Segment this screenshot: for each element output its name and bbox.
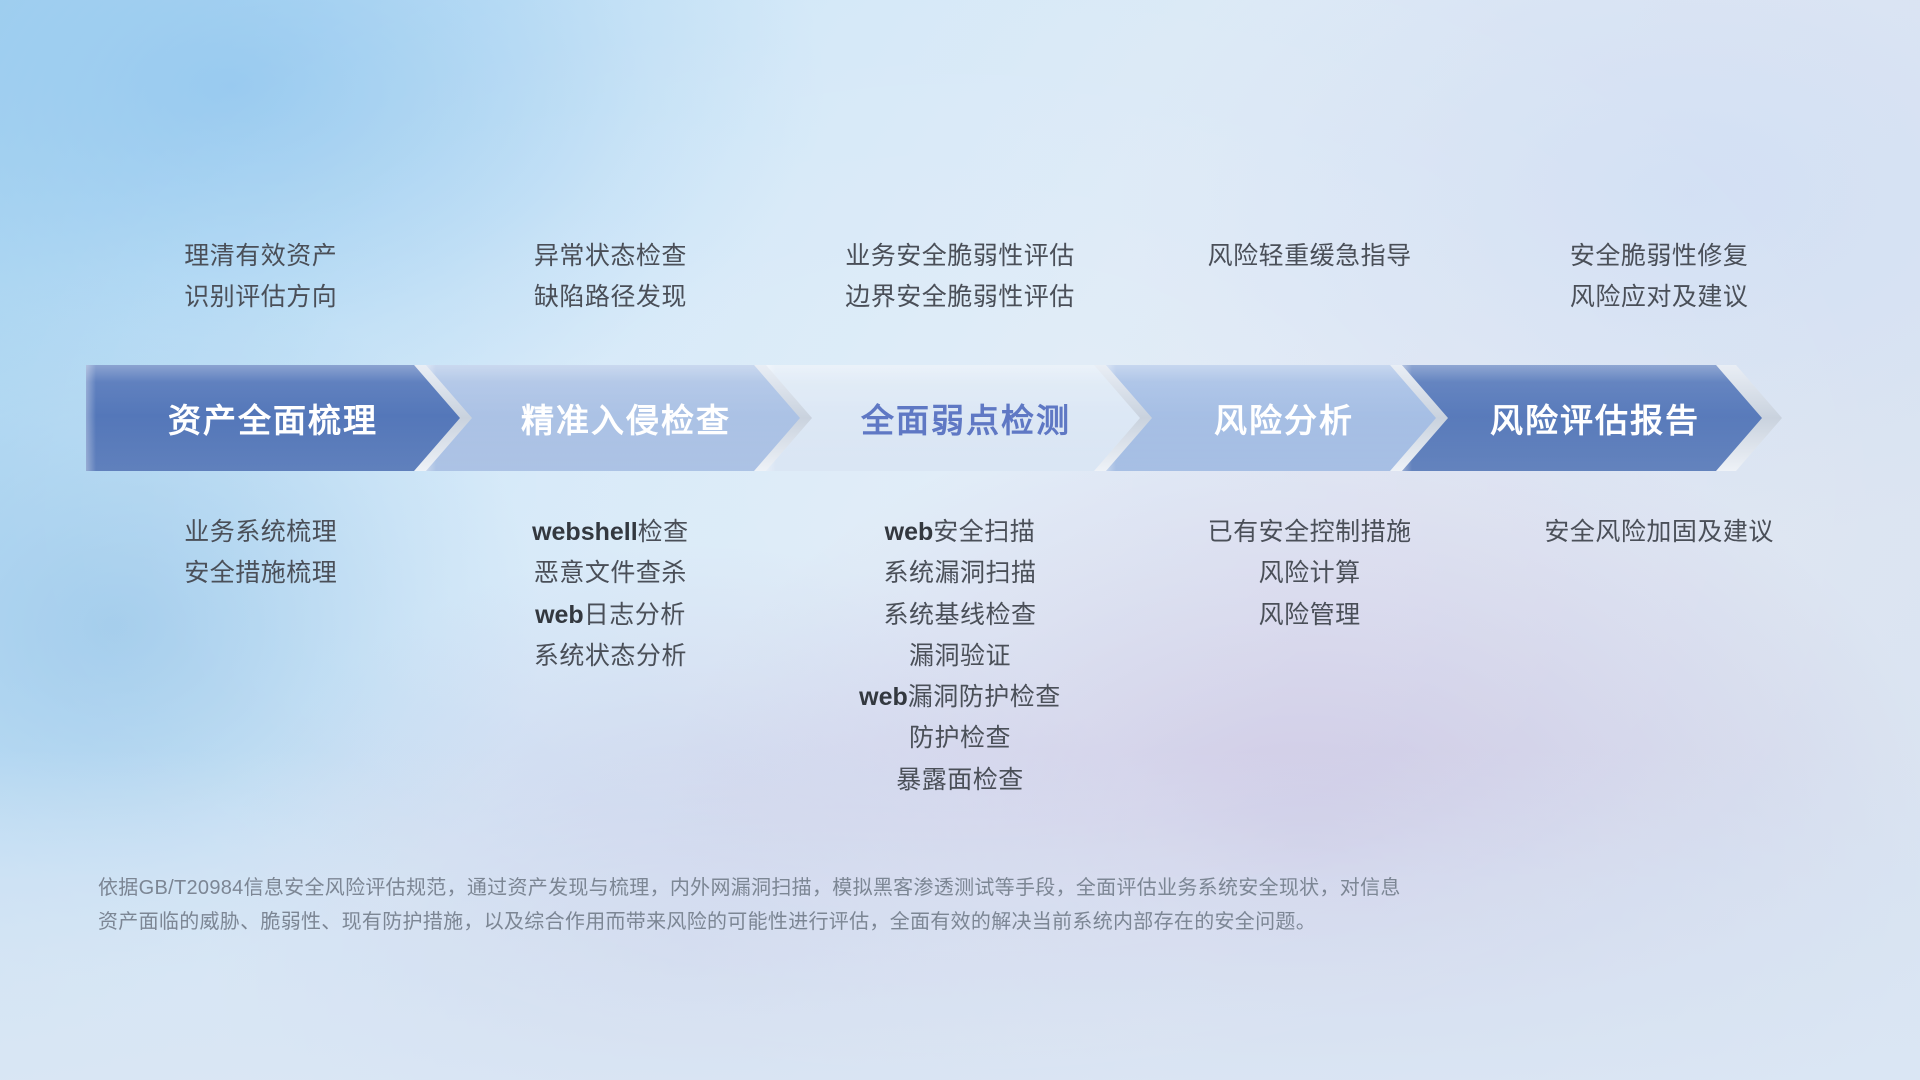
bottom-detail-item: 系统状态分析 [436, 636, 786, 677]
bottom-detail-item: web安全扫描 [785, 512, 1135, 553]
bottom-detail-item: 安全措施梳理 [86, 553, 436, 594]
detail-latin-token: web [859, 683, 908, 711]
bottom-details-row: 业务系统梳理安全措施梳理webshell检查恶意文件查杀web日志分析系统状态分… [86, 512, 1834, 801]
bottom-detail-item: 已有安全控制措施 [1135, 512, 1485, 553]
top-annotation-item: 识别评估方向 [86, 277, 436, 318]
bottom-detail-item: 风险管理 [1135, 595, 1485, 636]
bottom-detail-col-risk-analysis: 已有安全控制措施风险计算风险管理 [1135, 512, 1485, 636]
top-annotations-row: 理清有效资产识别评估方向异常状态检查缺陷路径发现业务安全脆弱性评估边界安全脆弱性… [86, 236, 1834, 319]
detail-cjk-token: 暴露面检查 [896, 766, 1024, 794]
chevron-label: 风险评估报告 [1490, 394, 1700, 442]
bottom-detail-item: web漏洞防护检查 [785, 677, 1135, 718]
bottom-detail-item: 风险计算 [1135, 553, 1485, 594]
top-annotation-col-risk-report: 安全脆弱性修复风险应对及建议 [1484, 236, 1834, 319]
top-annotation-col-risk-analysis: 风险轻重缓急指导 [1135, 236, 1485, 277]
detail-cjk-token: 系统状态分析 [534, 642, 687, 670]
bottom-detail-item: 漏洞验证 [785, 636, 1135, 677]
bottom-detail-item: 系统基线检查 [785, 595, 1135, 636]
bottom-detail-item: webshell检查 [436, 512, 786, 553]
detail-cjk-token: 安全风险加固及建议 [1544, 518, 1774, 546]
detail-cjk-token: 日志分析 [584, 601, 686, 629]
chevron-stage-asset-inventory[interactable]: 资产全面梳理 [86, 365, 460, 471]
detail-latin-token: web [885, 518, 934, 546]
bottom-detail-item: 安全风险加固及建议 [1484, 512, 1834, 553]
detail-cjk-token: 风险管理 [1259, 601, 1361, 629]
diagram-stage: 理清有效资产识别评估方向异常状态检查缺陷路径发现业务安全脆弱性评估边界安全脆弱性… [0, 0, 1920, 1080]
detail-latin-token: webshell [532, 518, 638, 546]
top-annotation-item: 异常状态检查 [436, 236, 786, 277]
detail-cjk-token: 防护检查 [909, 724, 1011, 752]
chevron-stage-intrusion-check[interactable]: 精准入侵检查 [426, 365, 800, 471]
chevron-stage-risk-analysis[interactable]: 风险分析 [1106, 365, 1436, 471]
process-chevron-band: 资产全面梳理精准入侵检查全面弱点检测风险分析风险评估报告 [86, 365, 1838, 471]
bottom-detail-item: web日志分析 [436, 595, 786, 636]
bottom-detail-item: 恶意文件查杀 [436, 553, 786, 594]
chevron-label: 精准入侵检查 [521, 394, 731, 442]
bottom-detail-col-asset-inventory: 业务系统梳理安全措施梳理 [86, 512, 436, 595]
detail-latin-token: web [535, 601, 584, 629]
bottom-detail-col-intrusion-check: webshell检查恶意文件查杀web日志分析系统状态分析 [436, 512, 786, 677]
top-annotation-item: 边界安全脆弱性评估 [785, 277, 1135, 318]
detail-cjk-token: 风险计算 [1259, 559, 1361, 587]
detail-cjk-token: 安全措施梳理 [184, 559, 337, 587]
detail-cjk-token: 检查 [638, 518, 689, 546]
detail-cjk-token: 安全扫描 [933, 518, 1035, 546]
bottom-detail-col-weakness-detection: web安全扫描系统漏洞扫描系统基线检查漏洞验证web漏洞防护检查防护检查暴露面检… [785, 512, 1135, 801]
top-annotation-item: 风险应对及建议 [1484, 277, 1834, 318]
top-annotation-item: 风险轻重缓急指导 [1135, 236, 1485, 277]
chevron-stage-weakness-detection[interactable]: 全面弱点检测 [766, 365, 1140, 471]
footer-line-2: 资产面临的威胁、脆弱性、现有防护措施，以及综合作用而带来风险的可能性进行评估，全… [98, 906, 1658, 940]
detail-cjk-token: 恶意文件查杀 [534, 559, 687, 587]
top-annotation-item: 缺陷路径发现 [436, 277, 786, 318]
chevron-stage-risk-report[interactable]: 风险评估报告 [1402, 365, 1762, 471]
bottom-detail-item: 暴露面检查 [785, 760, 1135, 801]
detail-cjk-token: 系统漏洞扫描 [883, 559, 1036, 587]
top-annotation-item: 理清有效资产 [86, 236, 436, 277]
bottom-detail-item: 防护检查 [785, 718, 1135, 759]
footer-description: 依据GB/T20984信息安全风险评估规范，通过资产发现与梳理，内外网漏洞扫描，… [98, 872, 1658, 939]
bottom-detail-item: 系统漏洞扫描 [785, 553, 1135, 594]
detail-cjk-token: 业务系统梳理 [184, 518, 337, 546]
chevron-label: 全面弱点检测 [861, 394, 1071, 442]
detail-cjk-token: 已有安全控制措施 [1208, 518, 1412, 546]
top-annotation-item: 安全脆弱性修复 [1484, 236, 1834, 277]
top-annotation-col-asset-inventory: 理清有效资产识别评估方向 [86, 236, 436, 319]
chevron-label: 风险分析 [1214, 394, 1354, 442]
top-annotation-col-weakness-detection: 业务安全脆弱性评估边界安全脆弱性评估 [785, 236, 1135, 319]
top-annotation-col-intrusion-check: 异常状态检查缺陷路径发现 [436, 236, 786, 319]
detail-cjk-token: 系统基线检查 [883, 601, 1036, 629]
top-annotation-item: 业务安全脆弱性评估 [785, 236, 1135, 277]
detail-cjk-token: 漏洞防护检查 [908, 683, 1061, 711]
detail-cjk-token: 漏洞验证 [909, 642, 1011, 670]
footer-line-1: 依据GB/T20984信息安全风险评估规范，通过资产发现与梳理，内外网漏洞扫描，… [98, 872, 1658, 906]
bottom-detail-item: 业务系统梳理 [86, 512, 436, 553]
chevron-label: 资产全面梳理 [168, 394, 378, 442]
bottom-detail-col-risk-report: 安全风险加固及建议 [1484, 512, 1834, 553]
